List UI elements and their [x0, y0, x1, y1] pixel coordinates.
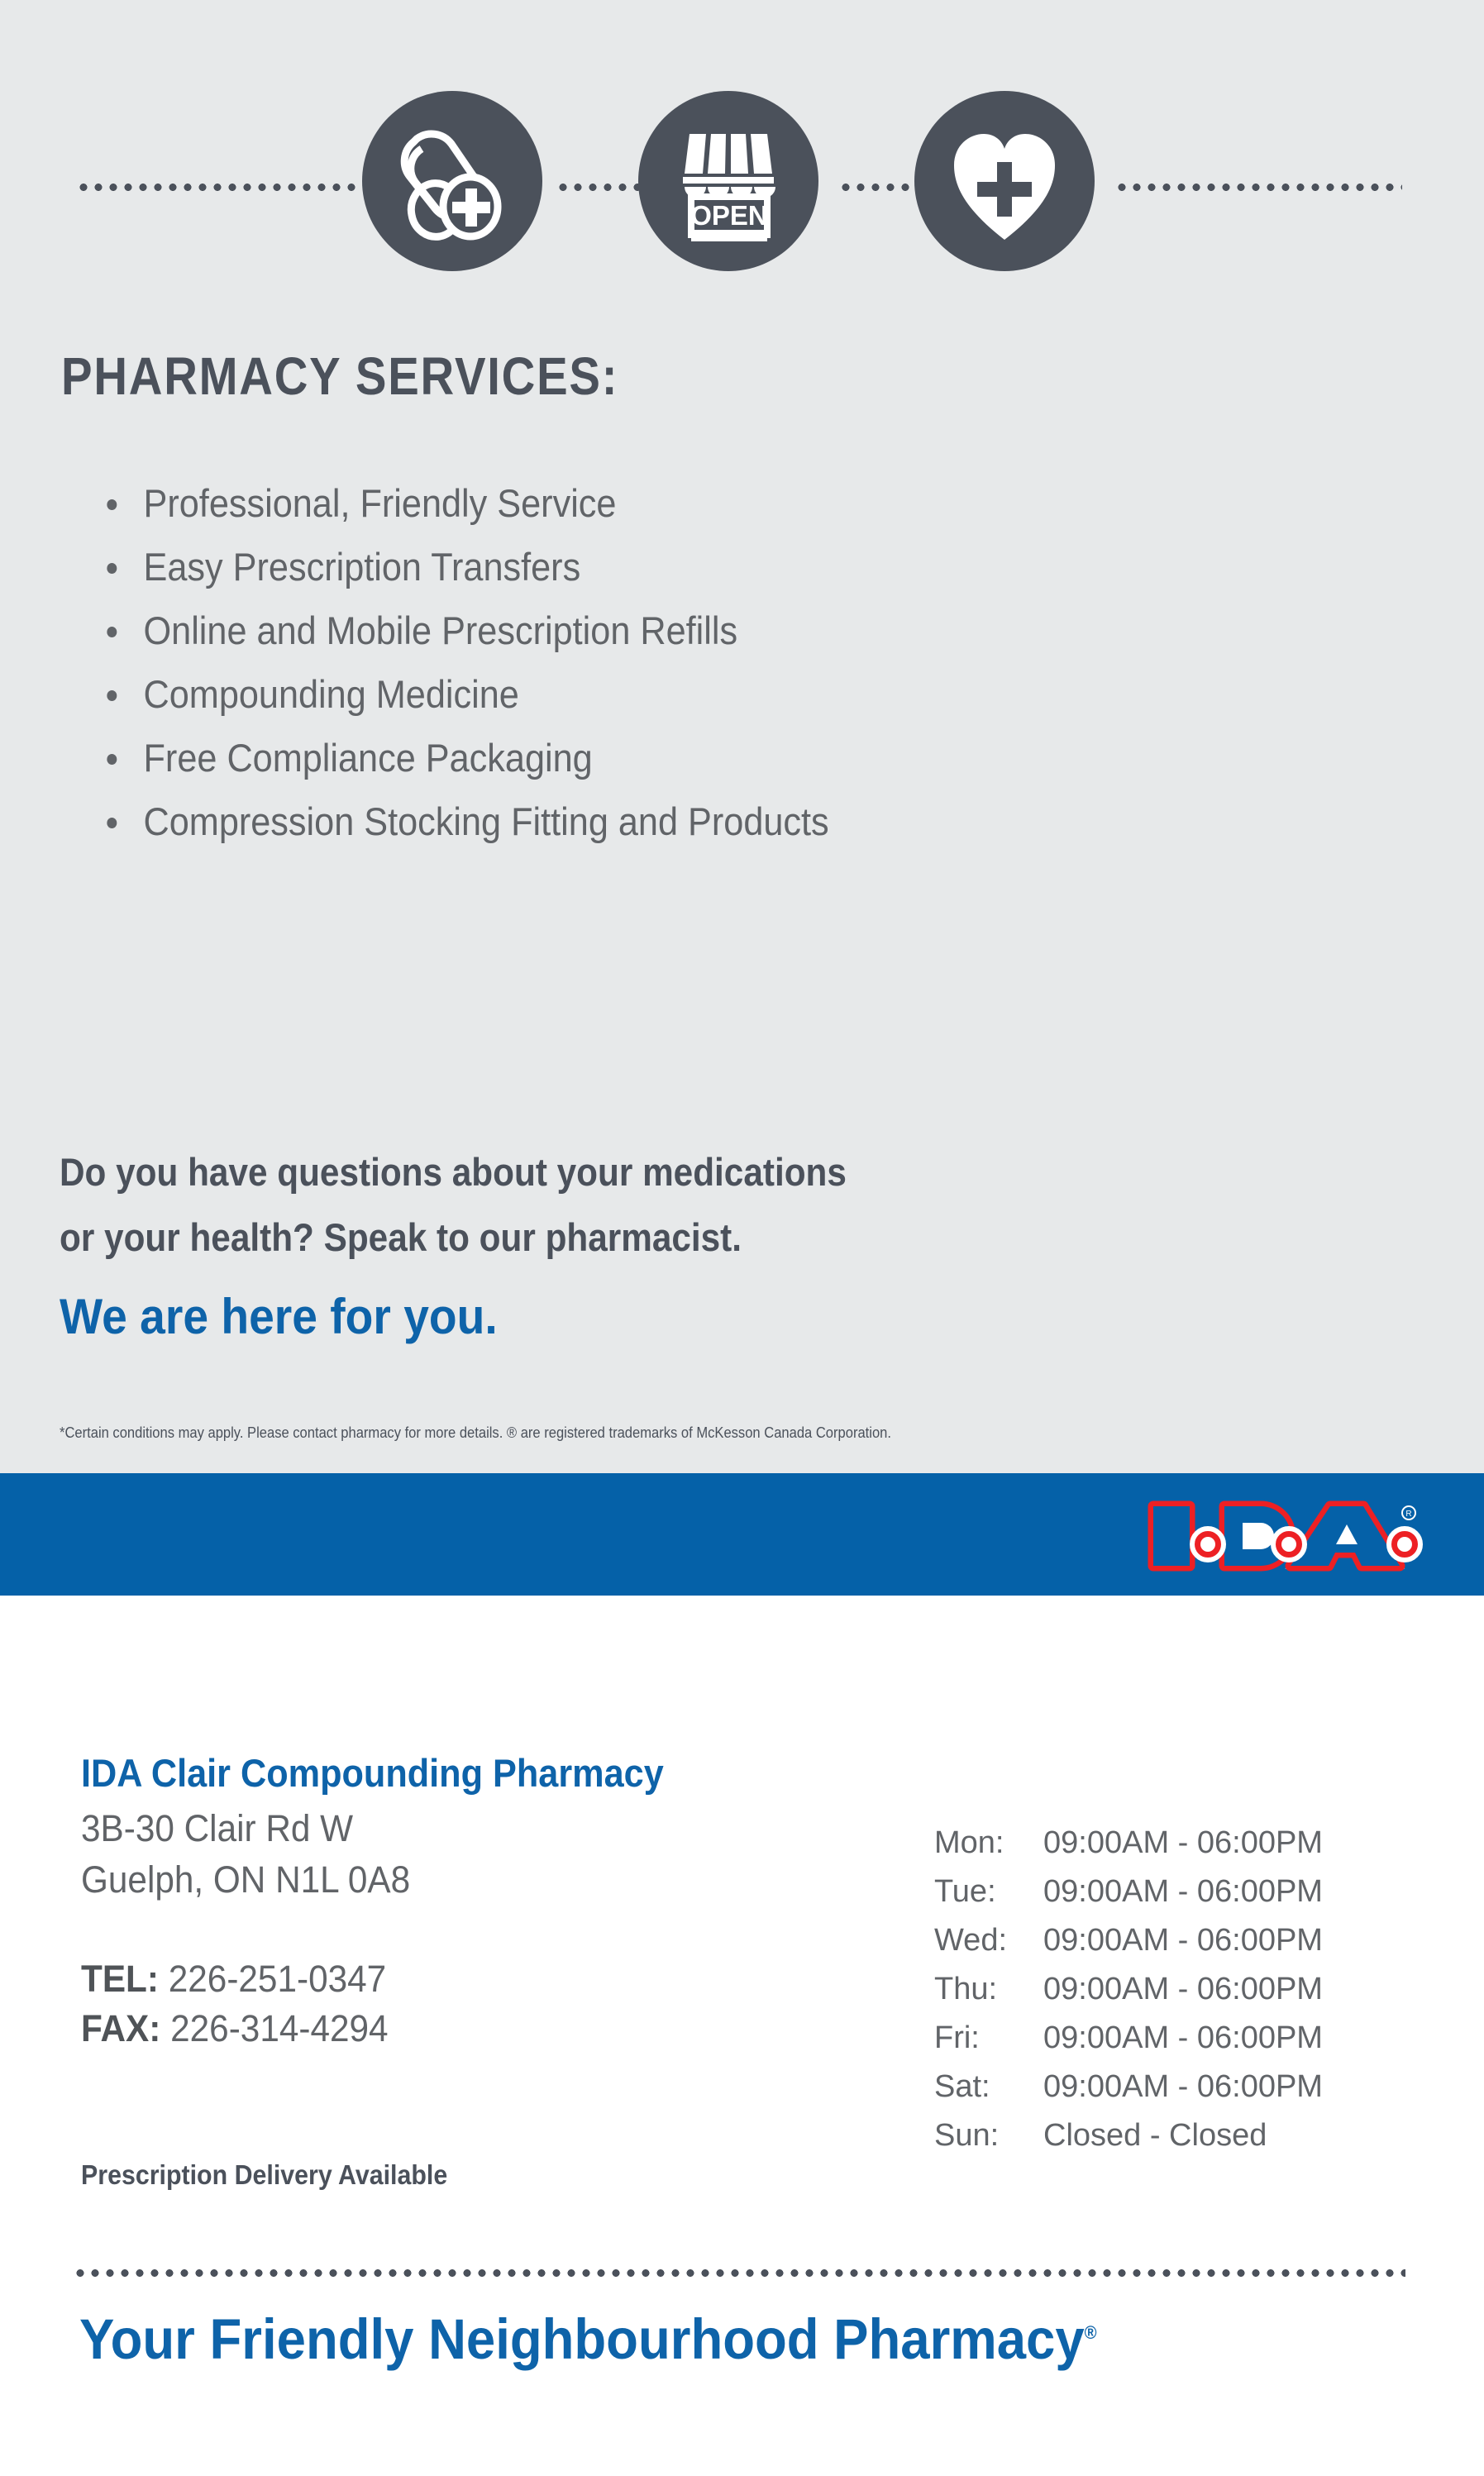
hours-time: 09:00AM - 06:00PM — [1043, 1916, 1323, 1965]
list-item: Easy Prescription Transfers — [101, 535, 829, 599]
icon-strip: OPEN — [0, 91, 1484, 277]
list-item: Compounding Medicine — [101, 662, 829, 726]
store-name: IDA Clair Compounding Pharmacy — [81, 1750, 664, 1796]
fax-value: 226-314-4294 — [170, 2007, 388, 2049]
heart-plus-icon — [914, 91, 1095, 271]
hours-time: 09:00AM - 06:00PM — [1043, 1868, 1323, 1916]
here-for-you-tagline: We are here for you. — [60, 1288, 498, 1345]
store-address-line-2: Guelph, ON N1L 0A8 — [81, 1858, 410, 1901]
hours-day: Thu: — [934, 1965, 1043, 2014]
hours-day: Tue: — [934, 1868, 1043, 1916]
list-item: Free Compliance Packaging — [101, 726, 829, 790]
hours-time: Closed - Closed — [1043, 2111, 1323, 2160]
hours-time: 09:00AM - 06:00PM — [1043, 2063, 1323, 2111]
table-row: Tue: 09:00AM - 06:00PM — [934, 1868, 1323, 1916]
dotted-rule-left — [76, 184, 364, 191]
footer-tagline: Your Friendly Neighbourhood Pharmacy® — [79, 2307, 1097, 2372]
store-hours-table: Mon: 09:00AM - 06:00PM Tue: 09:00AM - 06… — [934, 1819, 1323, 2160]
dotted-rule-mid-1 — [556, 184, 647, 191]
services-list: Professional, Friendly Service Easy Pres… — [101, 471, 892, 853]
fax-label: FAX: — [81, 2007, 160, 2049]
table-row: Mon: 09:00AM - 06:00PM — [934, 1819, 1323, 1868]
svg-text:OPEN: OPEN — [690, 200, 768, 231]
store-open-icon: OPEN — [638, 91, 818, 271]
hours-time: 09:00AM - 06:00PM — [1043, 1965, 1323, 2014]
table-row: Thu: 09:00AM - 06:00PM — [934, 1965, 1323, 2014]
question-block: Do you have questions about your medicat… — [60, 1139, 847, 1270]
dotted-rule-right — [1114, 184, 1402, 191]
pharmacy-flyer: OPEN PHARMACY SERVICES: Professional, Fr… — [0, 0, 1484, 2476]
table-row: Fri: 09:00AM - 06:00PM — [934, 2014, 1323, 2063]
list-item: Professional, Friendly Service — [101, 471, 829, 535]
table-row: Sun: Closed - Closed — [934, 2111, 1323, 2160]
list-item: Compression Stocking Fitting and Product… — [101, 790, 829, 853]
hours-day: Wed: — [934, 1916, 1043, 1965]
store-address-line-1: 3B-30 Clair Rd W — [81, 1807, 353, 1850]
hours-day: Sat: — [934, 2063, 1043, 2111]
table-row: Wed: 09:00AM - 06:00PM — [934, 1916, 1323, 1965]
list-item: Online and Mobile Prescription Refills — [101, 599, 829, 662]
footer-dotted-rule — [73, 2269, 1405, 2277]
question-line-1: Do you have questions about your medicat… — [60, 1139, 847, 1205]
svg-text:R: R — [1405, 1510, 1411, 1519]
footer-tagline-text: Your Friendly Neighbourhood Pharmacy — [79, 2307, 1085, 2371]
store-fax: FAX: 226-314-4294 — [81, 2007, 389, 2050]
hours-day: Fri: — [934, 2014, 1043, 2063]
tel-label: TEL: — [81, 1958, 159, 2000]
table-row: Sat: 09:00AM - 06:00PM — [934, 2063, 1323, 2111]
hours-time: 09:00AM - 06:00PM — [1043, 2014, 1323, 2063]
store-telephone: TEL: 226-251-0347 — [81, 1958, 386, 2001]
registered-mark: ® — [1085, 2322, 1097, 2343]
ida-logo: R — [1138, 1495, 1428, 1577]
page-title: PHARMACY SERVICES: — [61, 346, 618, 407]
hours-day: Sun: — [934, 2111, 1043, 2160]
pills-plus-icon — [362, 91, 542, 271]
question-line-2: or your health? Speak to our pharmacist. — [60, 1205, 847, 1270]
tel-value: 226-251-0347 — [169, 1958, 386, 2000]
hours-day: Mon: — [934, 1819, 1043, 1868]
disclaimer-text: *Certain conditions may apply. Please co… — [60, 1424, 891, 1442]
delivery-note: Prescription Delivery Available — [81, 2159, 447, 2191]
hours-time: 09:00AM - 06:00PM — [1043, 1819, 1323, 1868]
